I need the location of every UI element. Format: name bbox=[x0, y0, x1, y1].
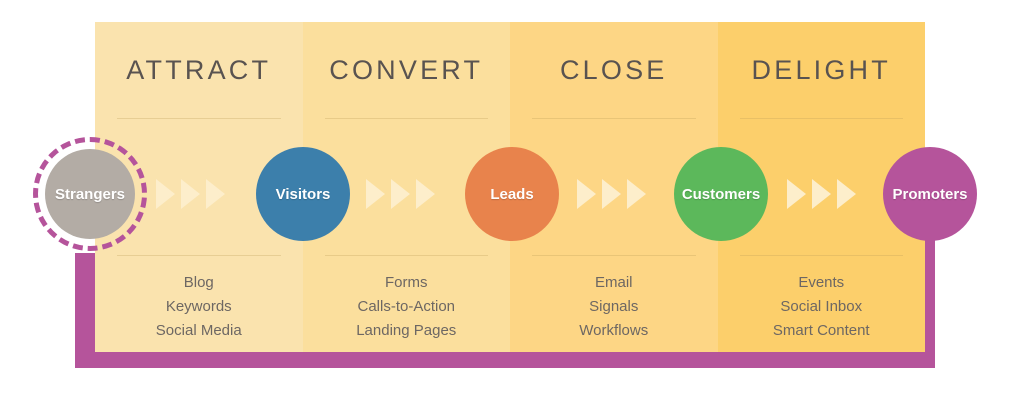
chevron-right-icon bbox=[837, 179, 856, 209]
list-item: Smart Content bbox=[718, 319, 926, 343]
stage-items-convert: Forms Calls-to-Action Landing Pages bbox=[303, 271, 511, 343]
node-visitors[interactable]: Visitors bbox=[256, 147, 350, 241]
divider-line bbox=[740, 118, 904, 119]
node-customers[interactable]: Customers bbox=[674, 147, 768, 241]
node-strangers[interactable]: Strangers bbox=[45, 149, 135, 239]
stage-items-close: Email Signals Workflows bbox=[510, 271, 718, 343]
arrow-group-convert bbox=[366, 179, 435, 209]
divider-line bbox=[117, 118, 281, 119]
divider-line bbox=[325, 118, 489, 119]
arrow-group-attract bbox=[156, 179, 225, 209]
chevron-right-icon bbox=[206, 179, 225, 209]
divider-line bbox=[740, 255, 904, 256]
divider-line bbox=[532, 255, 696, 256]
stage-header-delight: DELIGHT bbox=[718, 22, 926, 118]
list-item: Social Inbox bbox=[718, 295, 926, 319]
list-item: Keywords bbox=[95, 295, 303, 319]
stage-items-delight: Events Social Inbox Smart Content bbox=[718, 271, 926, 343]
frame-left-border bbox=[75, 253, 95, 368]
list-item: Calls-to-Action bbox=[303, 295, 511, 319]
chevron-right-icon bbox=[627, 179, 646, 209]
chevron-right-icon bbox=[366, 179, 385, 209]
arrow-group-close bbox=[577, 179, 646, 209]
stage-items-attract: Blog Keywords Social Media bbox=[95, 271, 303, 343]
divider-line bbox=[532, 118, 696, 119]
list-item: Events bbox=[718, 271, 926, 295]
stage-header-convert: CONVERT bbox=[303, 22, 511, 118]
inbound-funnel-diagram: ATTRACT Blog Keywords Social Media CONVE… bbox=[0, 0, 1020, 400]
chevron-right-icon bbox=[577, 179, 596, 209]
list-item: Forms bbox=[303, 271, 511, 295]
frame-bottom-border bbox=[75, 352, 935, 368]
list-item: Social Media bbox=[95, 319, 303, 343]
divider-line bbox=[117, 255, 281, 256]
list-item: Email bbox=[510, 271, 718, 295]
arrow-group-delight bbox=[787, 179, 856, 209]
chevron-right-icon bbox=[416, 179, 435, 209]
divider-line bbox=[325, 255, 489, 256]
list-item: Signals bbox=[510, 295, 718, 319]
list-item: Landing Pages bbox=[303, 319, 511, 343]
chevron-right-icon bbox=[391, 179, 410, 209]
stage-header-attract: ATTRACT bbox=[95, 22, 303, 118]
list-item: Blog bbox=[95, 271, 303, 295]
chevron-right-icon bbox=[787, 179, 806, 209]
list-item: Workflows bbox=[510, 319, 718, 343]
chevron-right-icon bbox=[181, 179, 200, 209]
stage-header-close: CLOSE bbox=[510, 22, 718, 118]
chevron-right-icon bbox=[602, 179, 621, 209]
chevron-right-icon bbox=[812, 179, 831, 209]
node-promoters[interactable]: Promoters bbox=[883, 147, 977, 241]
node-leads[interactable]: Leads bbox=[465, 147, 559, 241]
chevron-right-icon bbox=[156, 179, 175, 209]
